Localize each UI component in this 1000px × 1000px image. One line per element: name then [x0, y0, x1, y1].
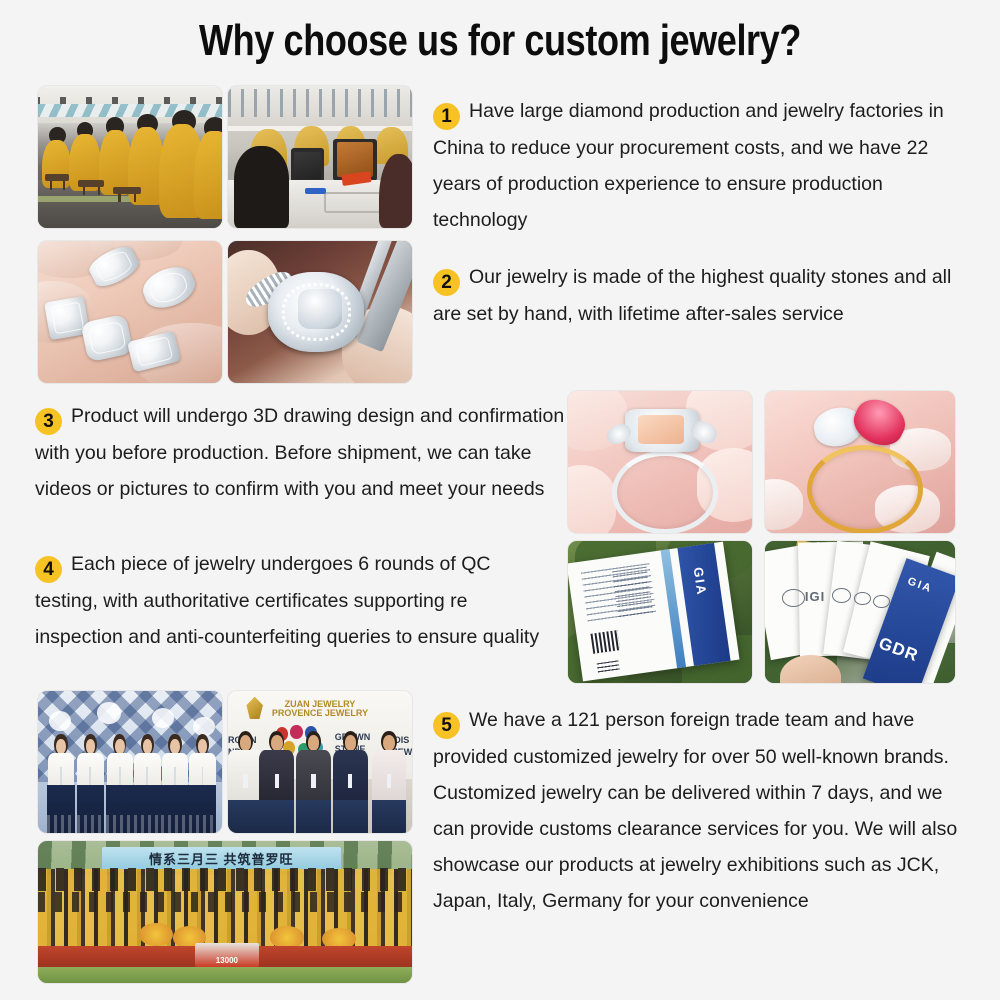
point-5-badge: 5: [433, 712, 460, 739]
point-3: 3Product will undergo 3D drawing design …: [35, 398, 568, 507]
point-4-badge: 4: [35, 556, 62, 583]
point-2-badge: 2: [433, 269, 460, 296]
photo-halo-ring-with-tweezers: [228, 241, 412, 383]
photo-gia-certificate: GIA: [568, 541, 752, 683]
photo-fanned-certificates: GIA GDR IGI: [765, 541, 955, 683]
photo-loose-diamonds-on-palm: [38, 241, 222, 383]
photo-qc-inspection-desk: [228, 86, 412, 228]
photo-peach-halo-ring: [568, 391, 752, 533]
photo-factory-production-line: [38, 86, 222, 228]
point-1: 1Have large diamond production and jewel…: [433, 93, 978, 238]
point-4: 4Each piece of jewelry undergoes 6 round…: [35, 546, 558, 655]
gia-logo-text-fanned: GIA: [906, 575, 934, 595]
group-photo-sign-number: 13000: [216, 956, 238, 967]
photo-company-group-photo: 情系三月三 共筑普罗旺 13000: [38, 841, 412, 983]
point-3-badge: 3: [35, 408, 62, 435]
booth-banner-line-2: PROVENCE JEWELRY: [261, 709, 379, 718]
point-1-text: Have large diamond production and jewelr…: [433, 100, 944, 231]
photo-gold-toi-et-moi-ring: [765, 391, 955, 533]
igi-logo-text: IGI: [805, 589, 825, 604]
point-3-text: Product will undergo 3D drawing design a…: [35, 405, 564, 500]
point-1-badge: 1: [433, 103, 460, 130]
point-2: 2Our jewelry is made of the highest qual…: [433, 259, 978, 332]
gdr-logo-text: GDR: [876, 633, 921, 666]
page-title: Why choose us for custom jewelry?: [90, 16, 910, 66]
point-4-text: Each piece of jewelry undergoes 6 rounds…: [35, 553, 539, 648]
point-5-text: We have a 121 person foreign trade team …: [433, 709, 957, 912]
point-5: 5We have a 121 person foreign trade team…: [433, 702, 978, 919]
photo-trade-show-booth: ZUAN JEWELRY PROVENCE JEWELRY ROWN ND EL…: [228, 691, 412, 833]
photo-sales-team-six-women: [38, 691, 222, 833]
point-2-text: Our jewelry is made of the highest quali…: [433, 266, 951, 325]
promo-page: Why choose us for custom jewelry?: [0, 0, 1000, 1000]
